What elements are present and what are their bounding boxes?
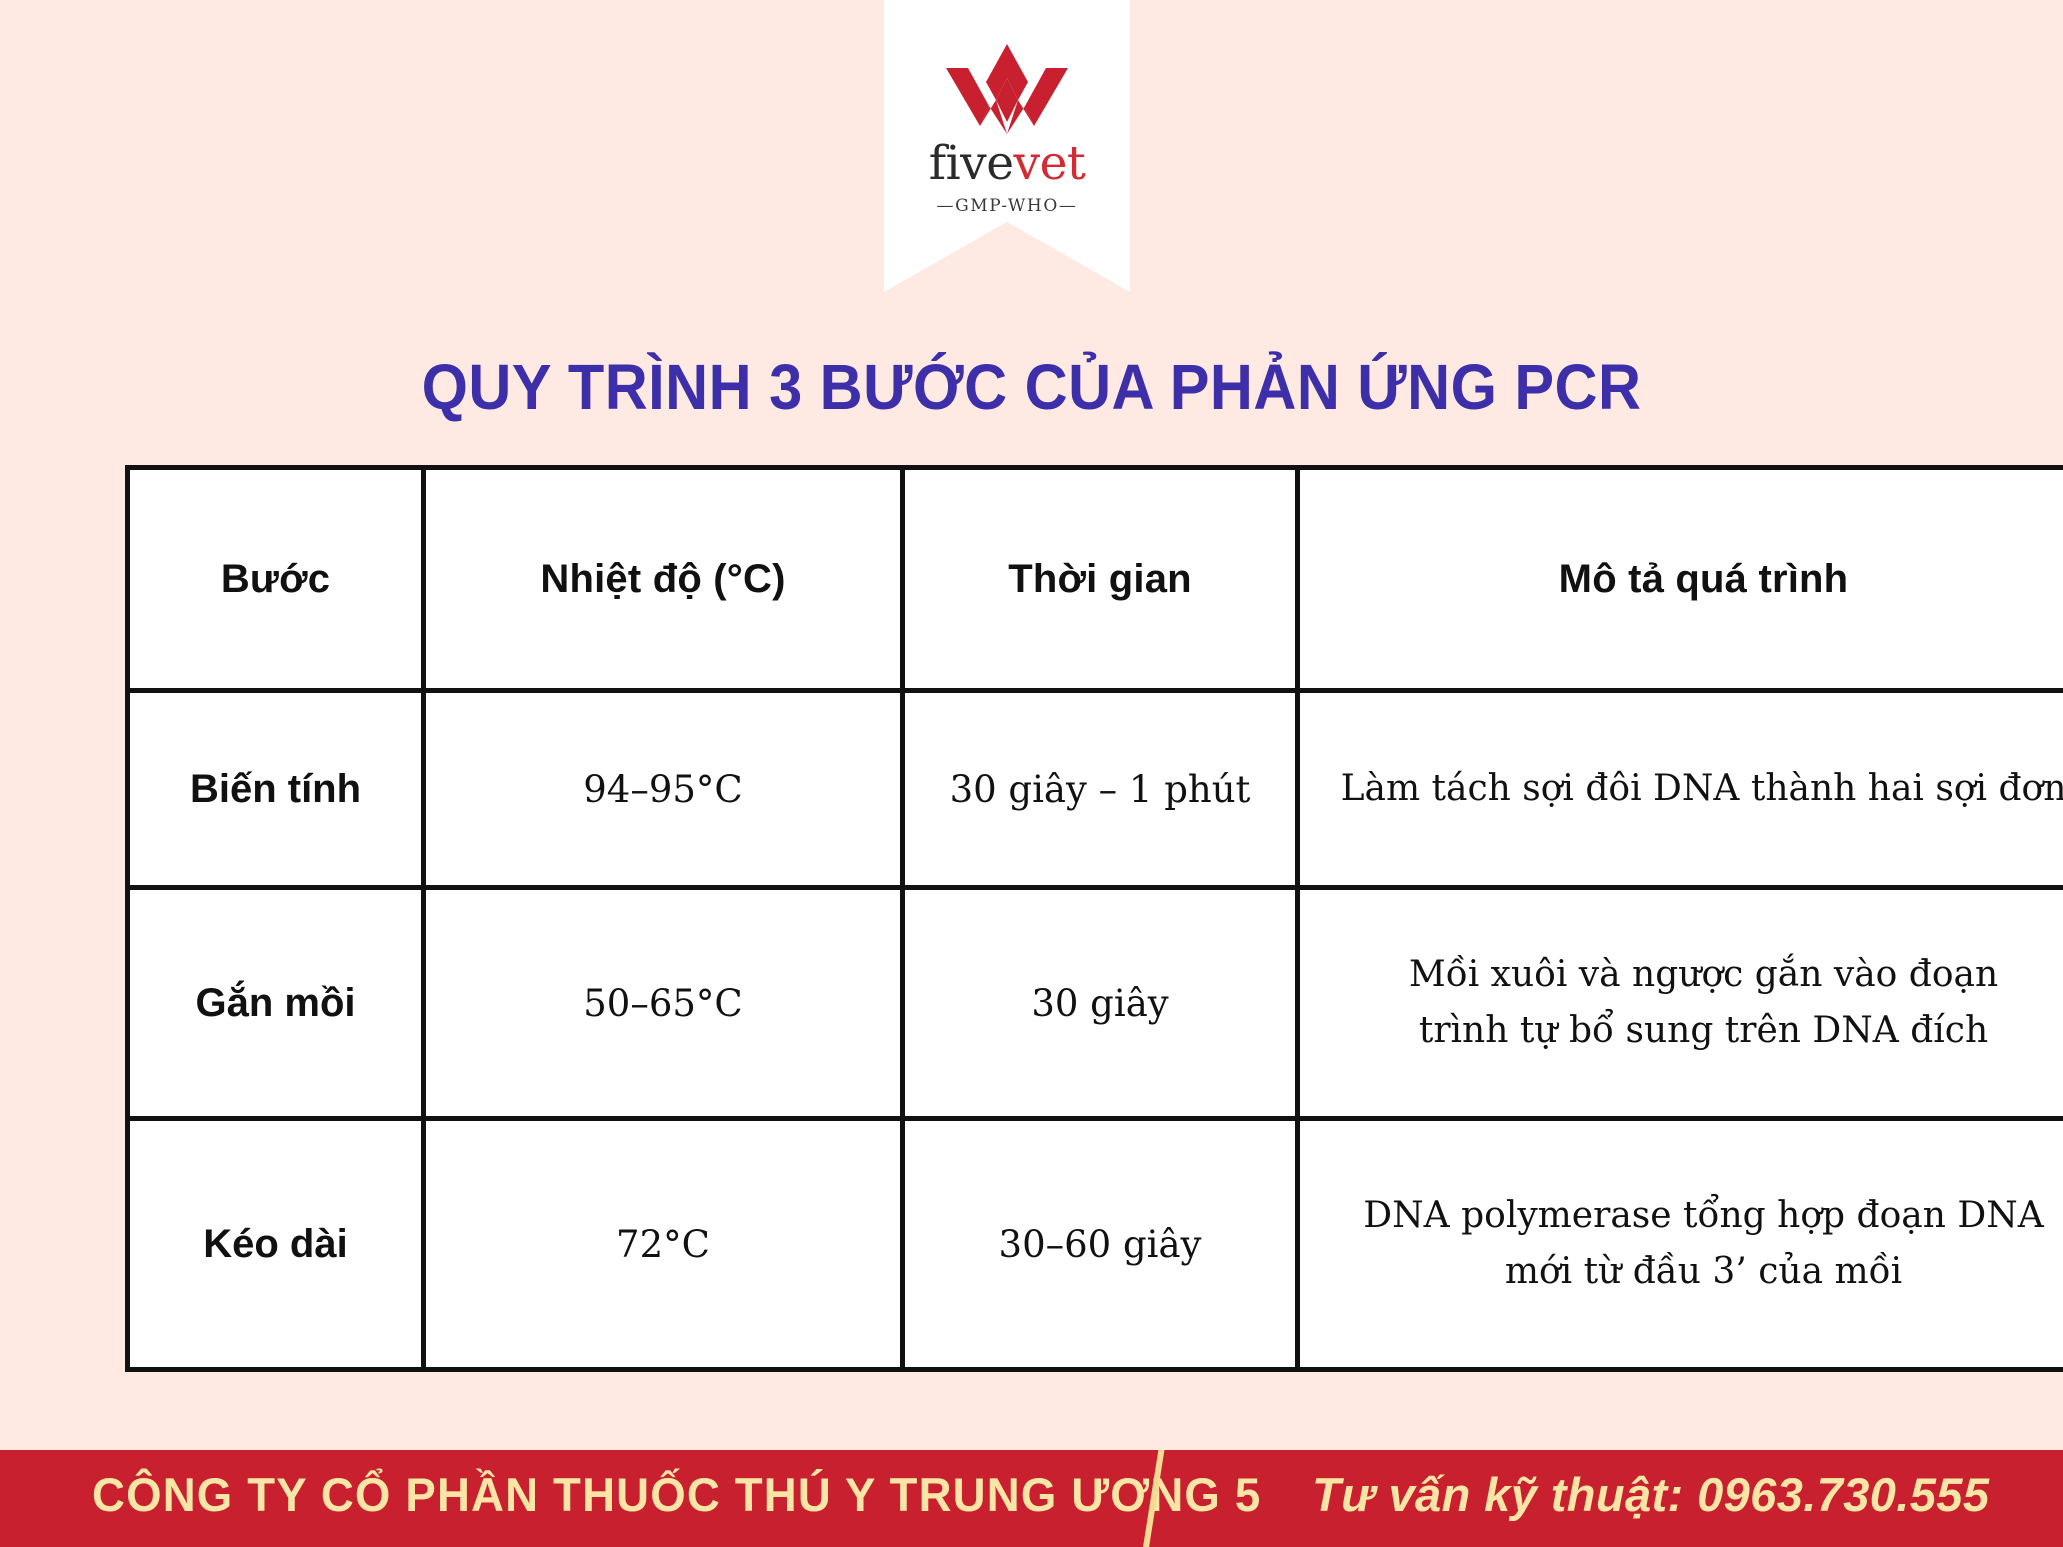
logo-ribbon: fivevet —GMP-WHO— <box>884 0 1130 292</box>
banner-hotline: Tư vấn kỹ thuật: 0963.730.555 <box>1312 1467 1989 1522</box>
banner-company-name: CÔNG TY CỔ PHẦN THUỐC THÚ Y TRUNG ƯƠNG 5 <box>92 1467 1261 1522</box>
cell-time: 30 giây <box>903 888 1298 1119</box>
cell-step: Gắn mồi <box>128 888 424 1119</box>
table-header-row: Bước Nhiệt độ (°C) Thời gian Mô tả quá t… <box>128 468 2063 691</box>
description-line: mới từ đầu 3’ của mồi <box>1310 1244 2063 1300</box>
logo-subtitle: —GMP-WHO— <box>937 196 1078 216</box>
pcr-steps-table: Bước Nhiệt độ (°C) Thời gian Mô tả quá t… <box>125 465 2063 1372</box>
cell-step: Biến tính <box>128 691 424 888</box>
cell-description: DNA polymerase tổng hợp đoạn DNA mới từ … <box>1298 1119 2063 1370</box>
description-line: DNA polymerase tổng hợp đoạn DNA <box>1310 1188 2063 1244</box>
column-header-description: Mô tả quá trình <box>1298 468 2063 691</box>
description-line: Làm tách sợi đôi DNA thành hai sợi đơn <box>1310 761 2063 817</box>
logo-word-five: five <box>929 136 1014 191</box>
description-line: trình tự bổ sung trên DNA đích <box>1310 1003 2063 1059</box>
cell-temperature: 72°C <box>424 1119 903 1370</box>
cell-step: Kéo dài <box>128 1119 424 1370</box>
logo-wordmark: fivevet <box>929 140 1086 187</box>
table-row: Gắn mồi 50–65°C 30 giây Mồi xuôi và ngượ… <box>128 888 2063 1119</box>
logo-word-vet: vet <box>1014 136 1086 191</box>
column-header-time: Thời gian <box>903 468 1298 691</box>
column-header-temperature: Nhiệt độ (°C) <box>424 468 903 691</box>
cell-time: 30 giây – 1 phút <box>903 691 1298 888</box>
table-row: Biến tính 94–95°C 30 giây – 1 phút Làm t… <box>128 691 2063 888</box>
cell-description: Làm tách sợi đôi DNA thành hai sợi đơn <box>1298 691 2063 888</box>
column-header-step: Bước <box>128 468 424 691</box>
description-line: Mồi xuôi và ngược gắn vào đoạn <box>1310 947 2063 1003</box>
cell-time: 30–60 giây <box>903 1119 1298 1370</box>
cell-temperature: 50–65°C <box>424 888 903 1119</box>
fivevet-chevron-logo-icon <box>944 42 1070 136</box>
cell-description: Mồi xuôi và ngược gắn vào đoạn trình tự … <box>1298 888 2063 1119</box>
page-title: QUY TRÌNH 3 BƯỚC CỦA PHẢN ỨNG PCR <box>72 348 1991 426</box>
bottom-banner: CÔNG TY CỔ PHẦN THUỐC THÚ Y TRUNG ƯƠNG 5… <box>0 1450 2063 1547</box>
table-row: Kéo dài 72°C 30–60 giây DNA polymerase t… <box>128 1119 2063 1370</box>
cell-temperature: 94–95°C <box>424 691 903 888</box>
